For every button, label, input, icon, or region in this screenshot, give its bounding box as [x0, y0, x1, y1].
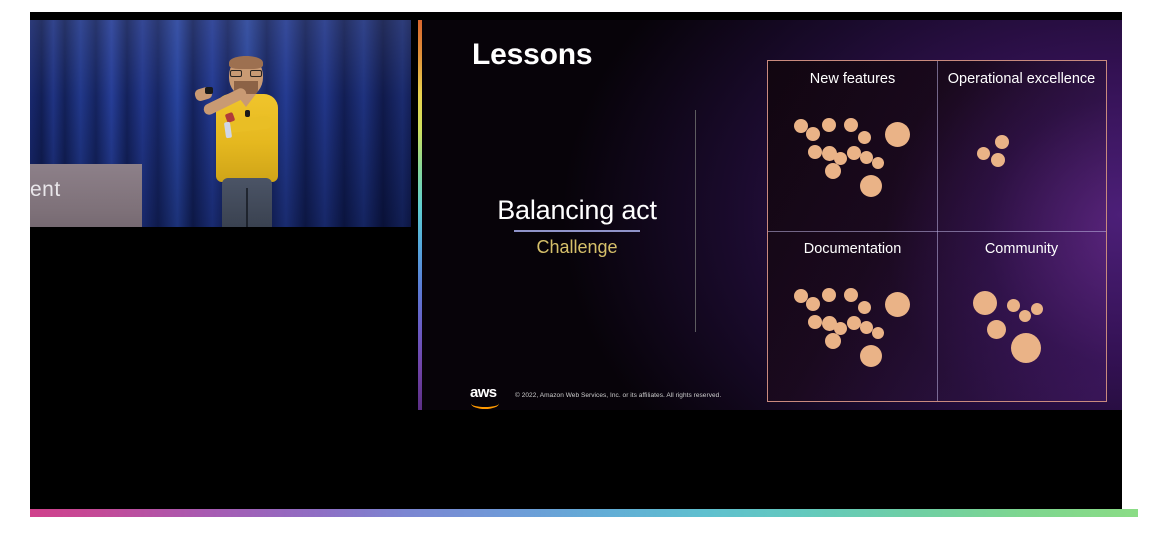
quadrant-label-operational-excellence: Operational excellence — [937, 71, 1106, 87]
speaker-hair — [229, 56, 263, 69]
data-dot — [885, 122, 910, 147]
data-dot — [1031, 303, 1043, 315]
quadrant-documentation: Documentation — [768, 231, 937, 401]
aws-logo-icon: aws — [470, 384, 504, 406]
speaker-camera-feed: ent — [30, 20, 418, 241]
camera-letterbox-bottom — [30, 227, 418, 241]
data-dot — [822, 288, 836, 302]
data-dot — [806, 297, 820, 311]
data-dot — [858, 301, 871, 314]
data-dot — [847, 316, 861, 330]
data-dot — [1019, 310, 1031, 322]
quadrant-operational-excellence: Operational excellence — [937, 61, 1106, 231]
speaker-glasses — [229, 70, 263, 77]
data-dot — [808, 315, 822, 329]
data-dot — [860, 175, 882, 197]
data-dot — [822, 118, 836, 132]
data-dot — [973, 291, 997, 315]
video-player-frame: ent — [30, 12, 1122, 509]
slide-accent-gradient-bar — [418, 20, 422, 410]
copyright-text: © 2022, Amazon Web Services, Inc. or its… — [515, 392, 721, 399]
data-dot — [995, 135, 1009, 149]
quadrant-chart: New features Operational excellence Docu… — [767, 60, 1107, 402]
slide-vertical-divider — [695, 110, 696, 332]
data-dot — [991, 153, 1005, 167]
slide-center-heading: Balancing act — [472, 196, 682, 226]
data-dot — [872, 157, 884, 169]
data-dot — [872, 327, 884, 339]
slide-footer: aws © 2022, Amazon Web Services, Inc. or… — [470, 384, 721, 406]
quadrant-community: Community — [937, 231, 1106, 401]
screen: ent — [0, 0, 1162, 544]
aws-smile-icon — [471, 398, 499, 409]
data-dot — [1007, 299, 1020, 312]
quadrant-label-community: Community — [937, 241, 1106, 257]
slide-center-subheading: Challenge — [472, 237, 682, 258]
data-dot — [844, 118, 858, 132]
presenter-remote — [205, 87, 213, 94]
data-dot — [858, 131, 871, 144]
quadrant-label-new-features: New features — [768, 71, 937, 87]
lectern-sign-text: ent — [30, 178, 61, 202]
data-dot — [825, 333, 841, 349]
quadrant-new-features: New features — [768, 61, 937, 231]
data-dot — [977, 147, 990, 160]
data-dot — [885, 292, 910, 317]
slide-center-underline — [514, 230, 640, 232]
slide-title: Lessons — [472, 38, 592, 72]
data-dot — [987, 320, 1006, 339]
data-dot — [825, 163, 841, 179]
data-dot — [808, 145, 822, 159]
camera-letterbox-right — [411, 20, 418, 241]
data-dot — [1011, 333, 1041, 363]
presentation-slide: Lessons Balancing act Challenge New feat… — [418, 20, 1122, 410]
slide-center-text-block: Balancing act Challenge — [472, 196, 682, 258]
speaker-figure — [198, 56, 328, 241]
lapel-microphone — [245, 110, 250, 117]
quadrant-label-documentation: Documentation — [768, 241, 937, 257]
data-dot — [860, 345, 882, 367]
data-dot — [844, 288, 858, 302]
bottom-gradient-strip — [30, 509, 1138, 517]
data-dot — [806, 127, 820, 141]
data-dot — [847, 146, 861, 160]
